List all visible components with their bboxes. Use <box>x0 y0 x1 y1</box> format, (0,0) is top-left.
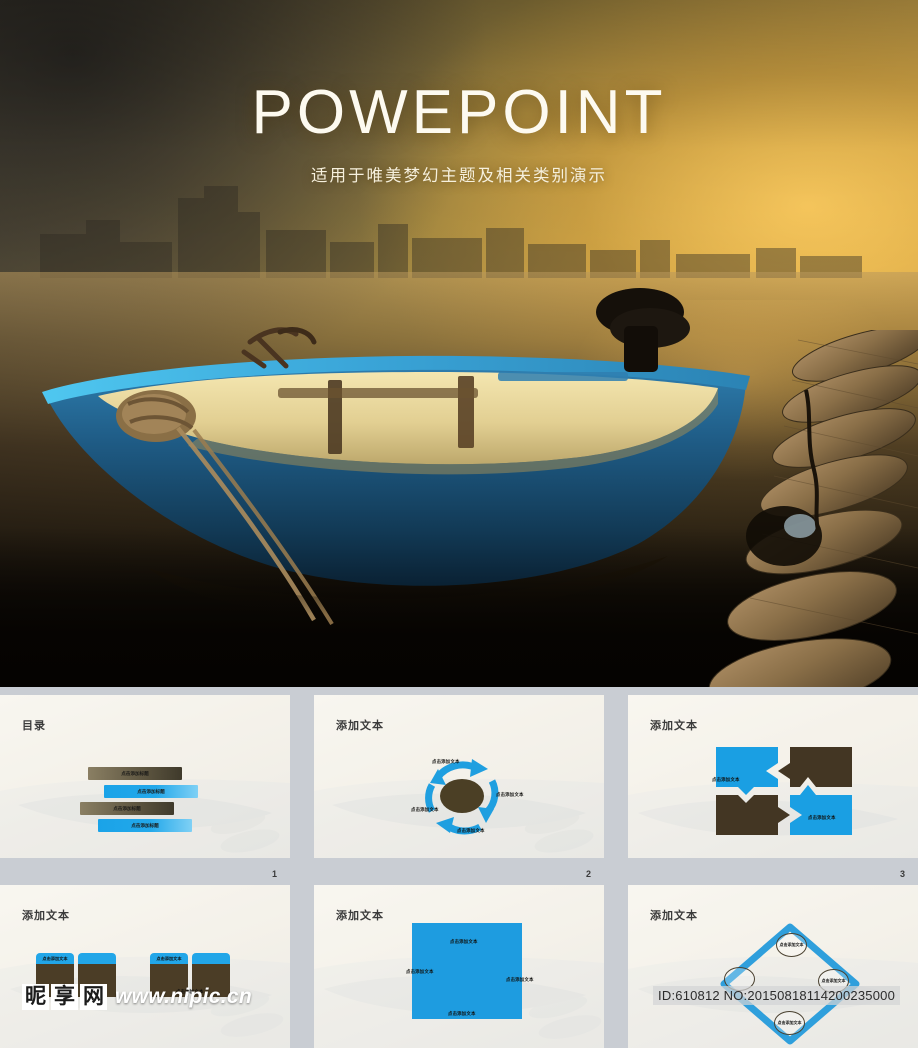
hero-text-block: POWEPOINT 适用于唯美梦幻主题及相关类别演示 <box>0 82 918 186</box>
puzzle-label-1: 点击添加文本 <box>712 777 740 783</box>
toc-bar-2[interactable]: 点击添加标题 <box>104 785 198 798</box>
page-number-3: 3 <box>900 869 905 879</box>
node-label: 点击添加文本 <box>822 978 846 984</box>
column-label: 点击添加文本 <box>156 956 181 962</box>
square-label-top: 点击添加文本 <box>450 939 478 945</box>
watermark-id-text: ID:610812 NO:20150818114200235000 <box>653 986 900 1005</box>
slide-title: 添加文本 <box>650 907 698 923</box>
square-label-bottom: 点击添加文本 <box>448 1011 476 1017</box>
site-watermark-logo: 昵 享 网 www.nipic.cn <box>22 984 252 1010</box>
thumbnail-row-1: 目录 点击添加标题 点击添加标题 点击添加标题 点击添加标题 <box>0 695 918 858</box>
cycle-label-4: 点击添加文本 <box>457 828 485 834</box>
page-title: POWEPOINT <box>0 82 918 144</box>
node-label: 点击添加文本 <box>780 942 804 948</box>
cycle-label-1: 点击添加文本 <box>432 759 460 765</box>
toc-bar-label: 点击添加标题 <box>121 771 149 777</box>
page-number-2: 2 <box>586 869 591 879</box>
logo-char-2: 享 <box>51 984 78 1010</box>
puzzle-blocks-diagram[interactable] <box>712 743 856 839</box>
page-subtitle: 适用于唯美梦幻主题及相关类别演示 <box>0 162 918 186</box>
slide-thumbnail-grid: 目录 点击添加标题 点击添加标题 点击添加标题 点击添加标题 <box>0 687 918 1024</box>
watermark-logo-chars: 昵 享 网 <box>22 984 107 1010</box>
toc-bar-4[interactable]: 点击添加标题 <box>98 819 192 832</box>
logo-char-3: 网 <box>80 984 107 1010</box>
square-label-right: 点击添加文本 <box>506 977 534 983</box>
diamond-node-top[interactable]: 点击添加文本 <box>776 933 807 957</box>
page-number-1: 1 <box>272 869 277 879</box>
slide-title: 添加文本 <box>650 717 698 733</box>
diamond-node-bottom[interactable]: 点击添加文本 <box>774 1011 805 1035</box>
slide-thumbnail-1[interactable]: 目录 点击添加标题 点击添加标题 点击添加标题 点击添加标题 <box>0 695 290 858</box>
square-label-left: 点击添加文本 <box>406 969 434 975</box>
slide-title: 添加文本 <box>22 907 70 923</box>
rowboat-illustration <box>28 268 768 628</box>
slide-thumbnail-2[interactable]: 添加文本 点击添加文本 点击添加文本 点击添加文本 点击 <box>314 695 604 858</box>
column-cap <box>192 953 230 964</box>
cycle-label-2: 点击添加文本 <box>496 792 524 798</box>
toc-bar-1[interactable]: 点击添加标题 <box>88 767 182 780</box>
slide-title: 添加文本 <box>336 907 384 923</box>
cycle-label-3: 点击添加文本 <box>411 807 439 813</box>
slide-thumbnail-3[interactable]: 添加文本 点击添加文本 点击添加文本 <box>628 695 918 858</box>
puzzle-label-2: 点击添加文本 <box>808 815 836 821</box>
logo-char-1: 昵 <box>22 984 49 1010</box>
watermark-url: www.nipic.cn <box>115 985 252 1009</box>
column-cap: 点击添加文本 <box>150 953 188 964</box>
pier-rope-fenders <box>688 330 918 687</box>
toc-bar-label: 点击添加标题 <box>131 823 159 829</box>
node-label: 点击添加文本 <box>778 1020 802 1026</box>
toc-bar-label: 点击添加标题 <box>113 806 141 812</box>
slide-title: 目录 <box>22 717 46 733</box>
slide-title: 添加文本 <box>336 717 384 733</box>
column-cap <box>78 953 116 964</box>
column-cap: 点击添加文本 <box>36 953 74 964</box>
hero-banner: POWEPOINT 适用于唯美梦幻主题及相关类别演示 <box>0 0 918 687</box>
toc-bar-label: 点击添加标题 <box>137 789 165 795</box>
column-label: 点击添加文本 <box>42 956 67 962</box>
toc-bar-3[interactable]: 点击添加标题 <box>80 802 174 815</box>
